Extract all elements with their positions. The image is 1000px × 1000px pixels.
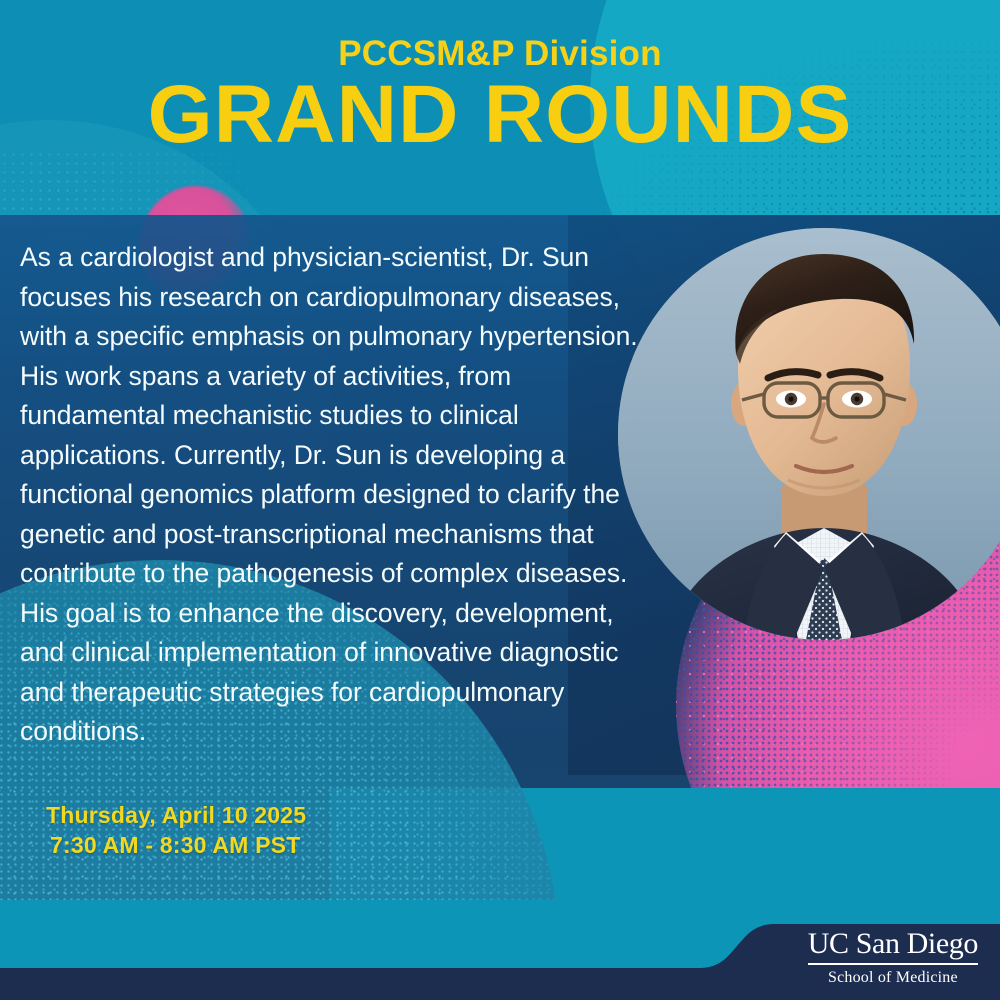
- page-title: GRAND ROUNDS: [0, 75, 1000, 155]
- event-date: Thursday, April 10 2025: [46, 800, 306, 830]
- grand-rounds-poster: PCCSM&P Division GRAND ROUNDS As a cardi…: [0, 0, 1000, 1000]
- person-portrait-icon: [618, 228, 1000, 640]
- speaker-bio-text: As a cardiologist and physician-scientis…: [20, 238, 642, 752]
- event-datetime: Thursday, April 10 2025 7:30 AM - 8:30 A…: [46, 800, 306, 860]
- division-kicker: PCCSM&P Division: [0, 36, 1000, 71]
- uc-san-diego-logo-icon: UC San Diego School of Medicine: [808, 929, 978, 986]
- event-time: 7:30 AM - 8:30 AM PST: [46, 830, 306, 860]
- logo-divider-rule: [808, 963, 978, 965]
- logo-subtitle: School of Medicine: [808, 970, 978, 986]
- portrait-illustration: [618, 228, 1000, 640]
- speaker-portrait: [618, 228, 1000, 640]
- poster-header: PCCSM&P Division GRAND ROUNDS: [0, 36, 1000, 155]
- poster-footer: UC San Diego School of Medicine: [0, 900, 1000, 1000]
- logo-wordmark: UC San Diego: [808, 929, 978, 959]
